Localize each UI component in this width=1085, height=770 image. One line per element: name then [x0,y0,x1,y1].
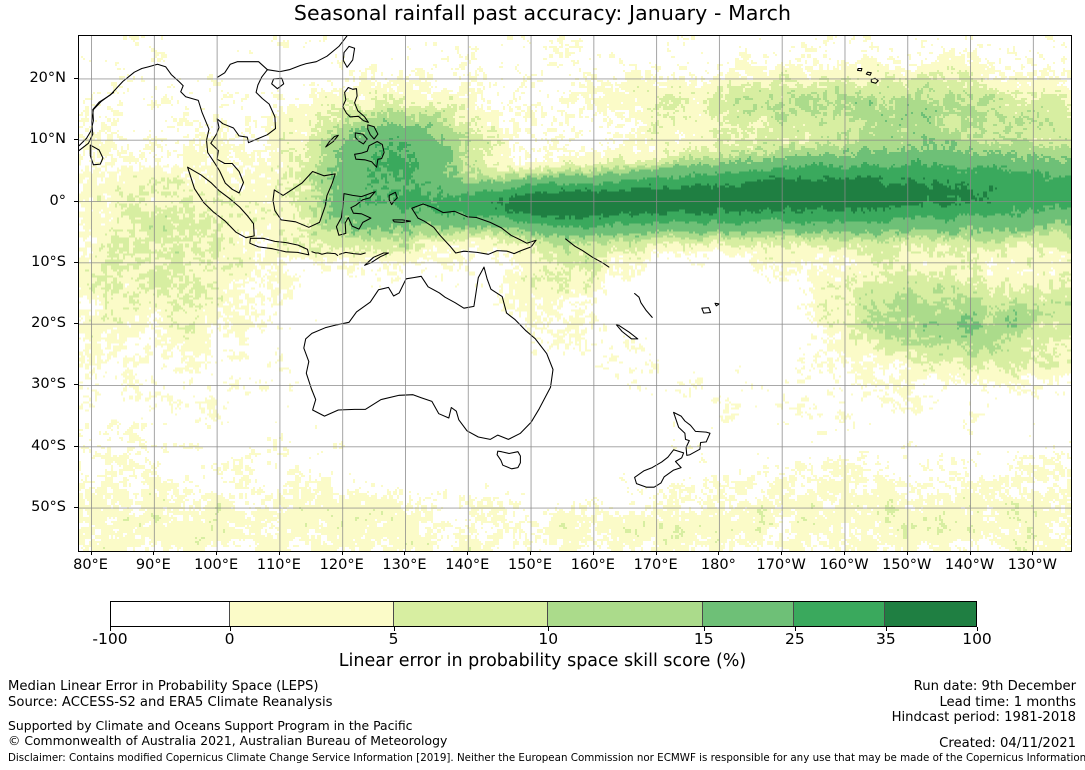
support-line: Supported by Climate and Oceans Support … [8,718,447,733]
y-axis-tick-label: 20°S [31,315,66,331]
x-axis-tick-mark [216,551,217,555]
lead-time: Lead time: 1 months [892,695,1076,711]
x-axis-tick-mark [656,551,657,555]
page-title: Seasonal rainfall past accuracy: January… [0,1,1085,25]
x-axis-tick-label: 80°E [73,557,108,573]
footer-left: Median Linear Error in Probability Space… [8,679,447,748]
x-axis-tick-mark [844,551,845,555]
colorbar-label: Linear error in probability space skill … [0,651,1085,671]
colorbar-tick-mark [977,627,978,631]
x-axis-tick-mark [907,551,908,555]
colorbar-tick-mark [394,627,395,631]
colorbar-band [111,602,230,626]
colorbar-tick-label: 10 [538,630,558,648]
x-axis-tick-label: 130°E [382,557,426,573]
y-axis-tick-label: 50°S [31,499,66,515]
x-axis-tick-label: 160°W [819,557,868,573]
colorbar-band [794,602,885,626]
y-axis-tick-mark [74,262,78,263]
colorbar-band [885,602,976,626]
map-plot-area[interactable] [78,35,1072,552]
y-axis-tick-mark [74,323,78,324]
x-axis-tick-label: 140°E [445,557,489,573]
copyright-line: © Commonwealth of Australia 2021, Austra… [8,733,447,748]
metric-line-2: Source: ACCESS-S2 and ERA5 Climate Reana… [8,695,447,711]
x-axis-tick-label: 150°W [882,557,931,573]
footer-right: Run date: 9th December Lead time: 1 mont… [892,679,1076,751]
run-date: Run date: 9th December [892,679,1076,695]
x-axis-tick-mark [530,551,531,555]
colorbar-tick-label: 100 [962,630,992,648]
x-axis-tick-label: 120°E [320,557,364,573]
metric-line-1: Median Linear Error in Probability Space… [8,679,447,695]
x-axis-tick-label: 90°E [136,557,171,573]
colorbar-tick-mark [704,627,705,631]
y-axis-tick-label: 30°S [31,376,66,392]
x-axis-tick-mark [91,551,92,555]
x-axis-tick-mark [467,551,468,555]
y-axis-tick-mark [74,78,78,79]
x-axis-tick-label: 100°E [194,557,238,573]
x-axis-tick-label: 130°W [1008,557,1057,573]
x-axis-tick-mark [718,551,719,555]
map-gridlines [79,36,1071,551]
y-axis-tick-label: 20°N [29,70,66,86]
x-axis-tick-label: 170°W [757,557,806,573]
x-axis-tick-mark [342,551,343,555]
y-axis-tick-label: 10°S [31,254,66,270]
x-axis-tick-label: 110°E [257,557,301,573]
colorbar[interactable] [110,601,977,627]
colorbar-tick-label: 15 [694,630,714,648]
colorbar-band [703,602,794,626]
x-axis-tick-label: 170°E [634,557,678,573]
colorbar-tick-label: 25 [785,630,805,648]
x-axis-tick-mark [593,551,594,555]
x-axis-tick-mark [404,551,405,555]
hindcast-period: Hindcast period: 1981-2018 [892,710,1076,726]
x-axis-tick-label: 140°W [945,557,994,573]
y-axis-tick-label: 40°S [31,438,66,454]
x-axis-tick-mark [1032,551,1033,555]
x-axis-tick-label: 150°E [508,557,552,573]
colorbar-tick-mark [548,627,549,631]
x-axis-tick-mark [153,551,154,555]
y-axis-tick-mark [74,201,78,202]
colorbar-tick-mark [886,627,887,631]
colorbar-band [394,602,548,626]
colorbar-tick-mark [110,627,111,631]
x-axis-tick-label: 160°E [571,557,615,573]
colorbar-tick-label: 35 [876,630,896,648]
y-axis-tick-mark [74,446,78,447]
y-axis-tick-label: 0° [50,193,66,209]
colorbar-tick-label: 0 [225,630,235,648]
x-axis-tick-mark [970,551,971,555]
created-date: Created: 04/11/2021 [892,736,1076,752]
x-axis-tick-mark [279,551,280,555]
y-axis-tick-mark [74,507,78,508]
disclaimer-text: Disclaimer: Contains modified Copernicus… [8,752,1085,764]
colorbar-tick-mark [795,627,796,631]
colorbar-band [548,602,703,626]
y-axis-tick-label: 10°N [29,131,66,147]
y-axis-tick-mark [74,384,78,385]
colorbar-tick-mark [230,627,231,631]
colorbar-band [230,602,394,626]
y-axis-tick-mark [74,139,78,140]
colorbar-tick-label: -100 [92,630,127,648]
x-axis-tick-label: 180° [701,557,736,573]
x-axis-tick-mark [781,551,782,555]
colorbar-tick-label: 5 [389,630,399,648]
